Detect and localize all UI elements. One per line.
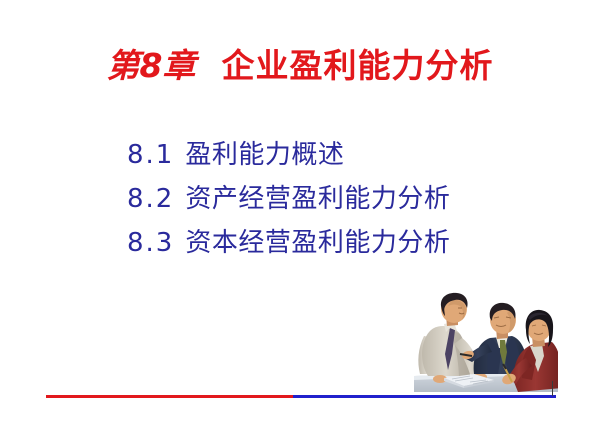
- agenda-item-1-label: 盈利能力概述: [185, 140, 344, 170]
- footer-rule-red: [46, 395, 293, 398]
- slide-canvas: 第8章企业盈利能力分析 8.1盈利能力概述 8.2资产经营盈利能力分析 8.3资…: [0, 0, 600, 424]
- footer-rule-blue: [293, 395, 556, 398]
- agenda-item-3-number: 8.3: [127, 228, 174, 258]
- title-chapter-label: 第8章: [107, 46, 196, 85]
- agenda-item-1[interactable]: 8.1盈利能力概述: [127, 133, 557, 177]
- agenda-item-1-number: 8.1: [127, 140, 174, 170]
- agenda-item-3-label: 资本经营盈利能力分析: [185, 228, 450, 258]
- agenda-item-2-number: 8.2: [127, 184, 174, 214]
- title-main-label: 企业盈利能力分析: [221, 46, 493, 85]
- page-title: 第8章企业盈利能力分析: [0, 44, 600, 88]
- agenda-item-2[interactable]: 8.2资产经营盈利能力分析: [127, 177, 557, 221]
- agenda-item-2-label: 资产经营盈利能力分析: [185, 184, 450, 214]
- business-meeting-illustration: [408, 292, 558, 398]
- agenda-item-3[interactable]: 8.3资本经营盈利能力分析: [127, 221, 557, 265]
- footer-rule-tick: [552, 381, 553, 396]
- agenda-list: 8.1盈利能力概述 8.2资产经营盈利能力分析 8.3资本经营盈利能力分析: [127, 133, 557, 265]
